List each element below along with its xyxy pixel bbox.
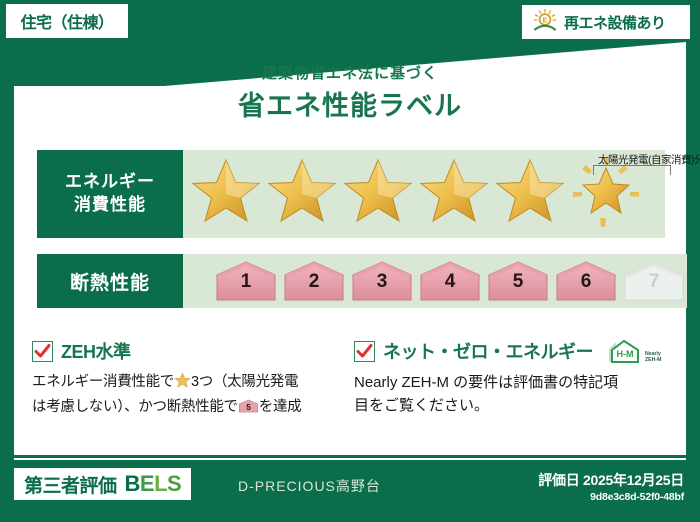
checkbox-checked-icon	[32, 341, 53, 362]
third-party-eval-label: 第三者評価	[24, 471, 117, 498]
footer-divider	[14, 458, 686, 460]
property-name: D-PRECIOUS高野台	[238, 476, 381, 496]
insulation-performance-row: 断熱性能 1	[37, 254, 665, 308]
zeh-standard-title: ZEH水準	[61, 338, 131, 364]
label-card-content: 建築物省エネ法に基づく 省エネ性能ラベル エネルギー 消費性能 太陽光発電(自家…	[14, 42, 686, 455]
insulation-level-badge: 5	[485, 258, 551, 304]
svg-text:ZEH-M: ZEH-M	[645, 357, 661, 363]
building-type-label: 住宅（住棟）	[20, 9, 113, 33]
insulation-level-scale: 1 2 3	[183, 258, 687, 304]
star-icon	[341, 156, 415, 233]
zeh-standard-header: ZEH水準	[32, 338, 344, 364]
page-title: 省エネ性能ラベル	[14, 84, 686, 123]
insulation-levels-panel: 1 2 3	[183, 254, 687, 308]
insulation-level-badge: 4	[417, 258, 483, 304]
house-5-icon: 5	[238, 398, 259, 421]
zeh-standard-section: ZEH水準 エネルギー消費性能で3つ（太陽光発電 は考慮しない）、かつ断熱性能で…	[32, 338, 344, 422]
net-zero-energy-title: ネット・ゼロ・エネルギー	[383, 338, 593, 364]
solar-sun-icon: E	[532, 8, 558, 37]
star-icon	[174, 372, 191, 396]
zeh-standard-body: エネルギー消費性能で3つ（太陽光発電 は考慮しない）、かつ断熱性能で5を達成	[32, 371, 344, 422]
renewable-badge-label: 再エネ設備あり	[564, 12, 666, 33]
net-zero-energy-section: ネット・ゼロ・エネルギー H-M Nearly ZEH-M Nearly ZEH…	[354, 338, 666, 418]
insulation-performance-label: 断熱性能	[37, 254, 183, 308]
nearly-zeh-m-house-logo: H-M Nearly ZEH-M	[605, 338, 664, 364]
checkbox-checked-icon	[354, 341, 375, 362]
net-zero-energy-body: Nearly ZEH-M の要件は評価書の特記項 目をご覧ください。	[354, 371, 666, 418]
building-type-tag: 住宅（住棟）	[6, 4, 128, 38]
star-icon	[189, 156, 263, 233]
insulation-level-badge-inactive: 7	[621, 258, 687, 304]
bels-energy-label: 住宅（住棟） E 再エネ設備あり 建築物省エネ法に	[0, 0, 700, 522]
solar-annotation-bracket	[593, 165, 671, 175]
insulation-level-badge: 2	[281, 258, 347, 304]
label-subtitle: 建築物省エネ法に基づく	[14, 62, 686, 83]
bels-logo-box: 第三者評価 BELS	[14, 468, 191, 500]
svg-text:5: 5	[246, 404, 251, 413]
star-icon	[417, 156, 491, 233]
svg-text:H-M: H-M	[617, 349, 634, 359]
energy-performance-label: エネルギー 消費性能	[37, 150, 183, 238]
star-icon	[493, 156, 567, 233]
svg-text:E: E	[543, 17, 548, 24]
energy-performance-stars-panel: 太陽光発電(自家消費)分	[183, 150, 665, 238]
bels-wordmark: BELS	[125, 471, 182, 497]
evaluation-id: 9d8e3c8d-52f0-48bf	[590, 491, 684, 503]
net-zero-energy-header: ネット・ゼロ・エネルギー H-M Nearly ZEH-M	[354, 338, 666, 364]
insulation-level-badge: 3	[349, 258, 415, 304]
energy-performance-row: エネルギー 消費性能 太陽光発電(自家消費)分	[37, 150, 665, 238]
star-icon	[265, 156, 339, 233]
insulation-level-badge: 1	[213, 258, 279, 304]
evaluation-date: 評価日 2025年12月25日	[538, 470, 684, 490]
renewable-equipment-badge: E 再エネ設備あり	[522, 5, 690, 39]
insulation-level-badge: 6	[553, 258, 619, 304]
